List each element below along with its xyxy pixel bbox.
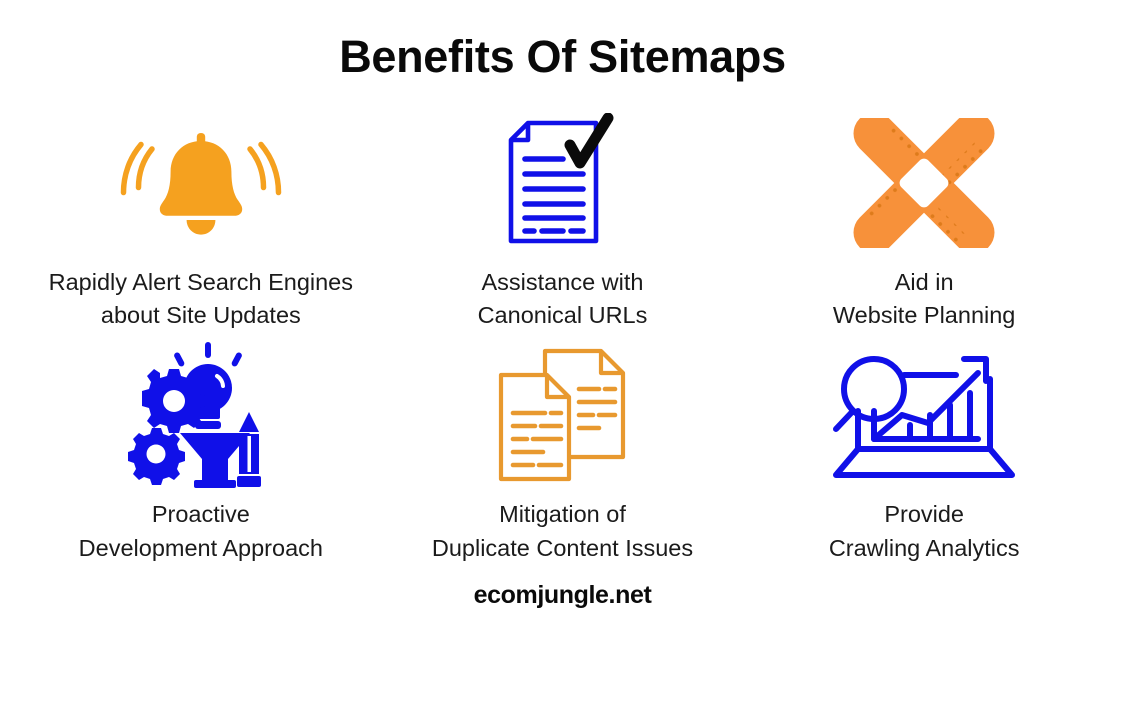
laptop-analytics-chart-icon xyxy=(824,340,1024,490)
gears-lightbulb-pencil-icon xyxy=(118,340,283,490)
benefit-caption: Proactive Development Approach xyxy=(79,498,323,565)
benefit-card-website-planning: Aid in Website Planning xyxy=(743,108,1105,333)
benefit-card-canonical-urls: Assistance with Canonical URLs xyxy=(382,108,744,333)
benefit-card-alert-search-engines: Rapidly Alert Search Engines about Site … xyxy=(20,108,382,333)
duplicate-documents-icon xyxy=(487,340,637,490)
infographic-poster: Benefits Of Sitemaps xyxy=(0,0,1125,703)
benefit-card-duplicate-content: Mitigation of Duplicate Content Issues xyxy=(382,340,744,565)
benefit-card-development-approach: Proactive Development Approach xyxy=(20,340,382,565)
crossed-bandages-icon xyxy=(849,108,999,258)
benefit-caption: Assistance with Canonical URLs xyxy=(478,266,648,333)
benefit-caption: Mitigation of Duplicate Content Issues xyxy=(432,498,693,565)
ringing-bell-icon xyxy=(116,108,286,258)
brand-footer: ecomjungle.net xyxy=(474,581,652,610)
document-checkmark-icon xyxy=(495,108,630,258)
benefit-card-crawling-analytics: Provide Crawling Analytics xyxy=(743,340,1105,565)
benefit-caption: Provide Crawling Analytics xyxy=(829,498,1020,565)
page-title: Benefits Of Sitemaps xyxy=(339,32,786,82)
benefit-caption: Aid in Website Planning xyxy=(833,266,1015,333)
benefits-grid: Rapidly Alert Search Engines about Site … xyxy=(20,108,1105,565)
benefit-caption: Rapidly Alert Search Engines about Site … xyxy=(49,266,353,333)
